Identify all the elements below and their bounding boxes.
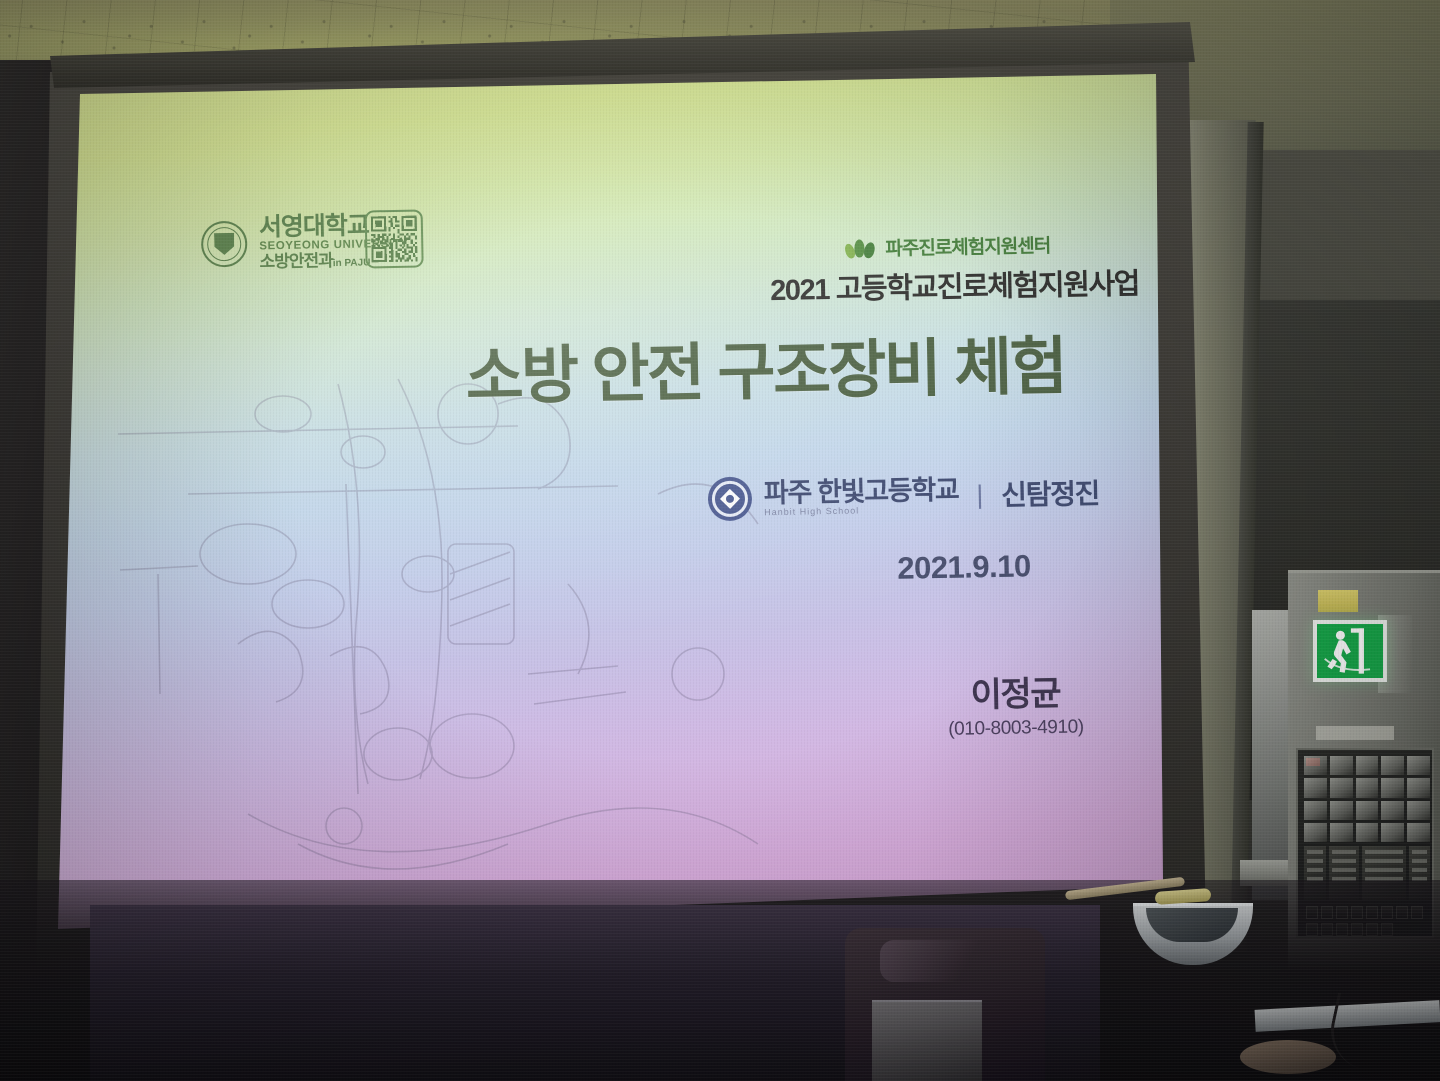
panel-text-label (1316, 726, 1394, 740)
projected-slide: 서영대학교 SEOYEONG UNIVERSITY 소방안전과in PAJU (58, 74, 1168, 929)
qr-code-icon (365, 209, 424, 268)
photo-scene: 서영대학교 SEOYEONG UNIVERSITY 소방안전과in PAJU (0, 0, 1440, 1081)
department-label: 소방안전과 (259, 251, 333, 271)
page-title: 소방 안전 구조장비 체험 (465, 316, 1066, 418)
panel-warning-sticker (1318, 590, 1358, 612)
presenter-name: 이정균 (947, 665, 1083, 716)
knob-icon (1240, 1040, 1336, 1074)
chair-highlight (880, 940, 1000, 982)
school-theme: 신탐정진 (1001, 472, 1100, 514)
school-emblem-icon (708, 476, 753, 521)
school-name-ko: 파주 한빛고등학교 (764, 475, 959, 507)
presenter-phone: (010-8003-4910) (948, 716, 1084, 740)
emergency-exit-sign (1313, 620, 1387, 682)
presenter-block: 이정균 (010-8003-4910) (947, 665, 1084, 740)
school-row: 파주 한빛고등학교 Hanbit High School | 신탐정진 (708, 470, 1100, 521)
program-subtitle: 2021 고등학교진로체험지원사업 (770, 260, 1140, 309)
emergency-exit-icon (1317, 624, 1383, 678)
slide-date: 2021.9.10 (897, 548, 1031, 586)
paju-center-logo-icon (843, 237, 877, 260)
paju-center-logo: 파주진로체험지원센터 (843, 231, 1050, 262)
school-name-en: Hanbit High School (764, 505, 959, 518)
seal-shield-icon (214, 233, 234, 255)
panel-indicator-grid[interactable] (1304, 756, 1430, 842)
equipment-box-icon (872, 1002, 982, 1081)
center-name: 파주진로체험지원센터 (885, 231, 1050, 261)
university-seal-icon (201, 220, 248, 267)
school-separator: | (976, 479, 983, 510)
emblem-core-icon (720, 489, 740, 509)
